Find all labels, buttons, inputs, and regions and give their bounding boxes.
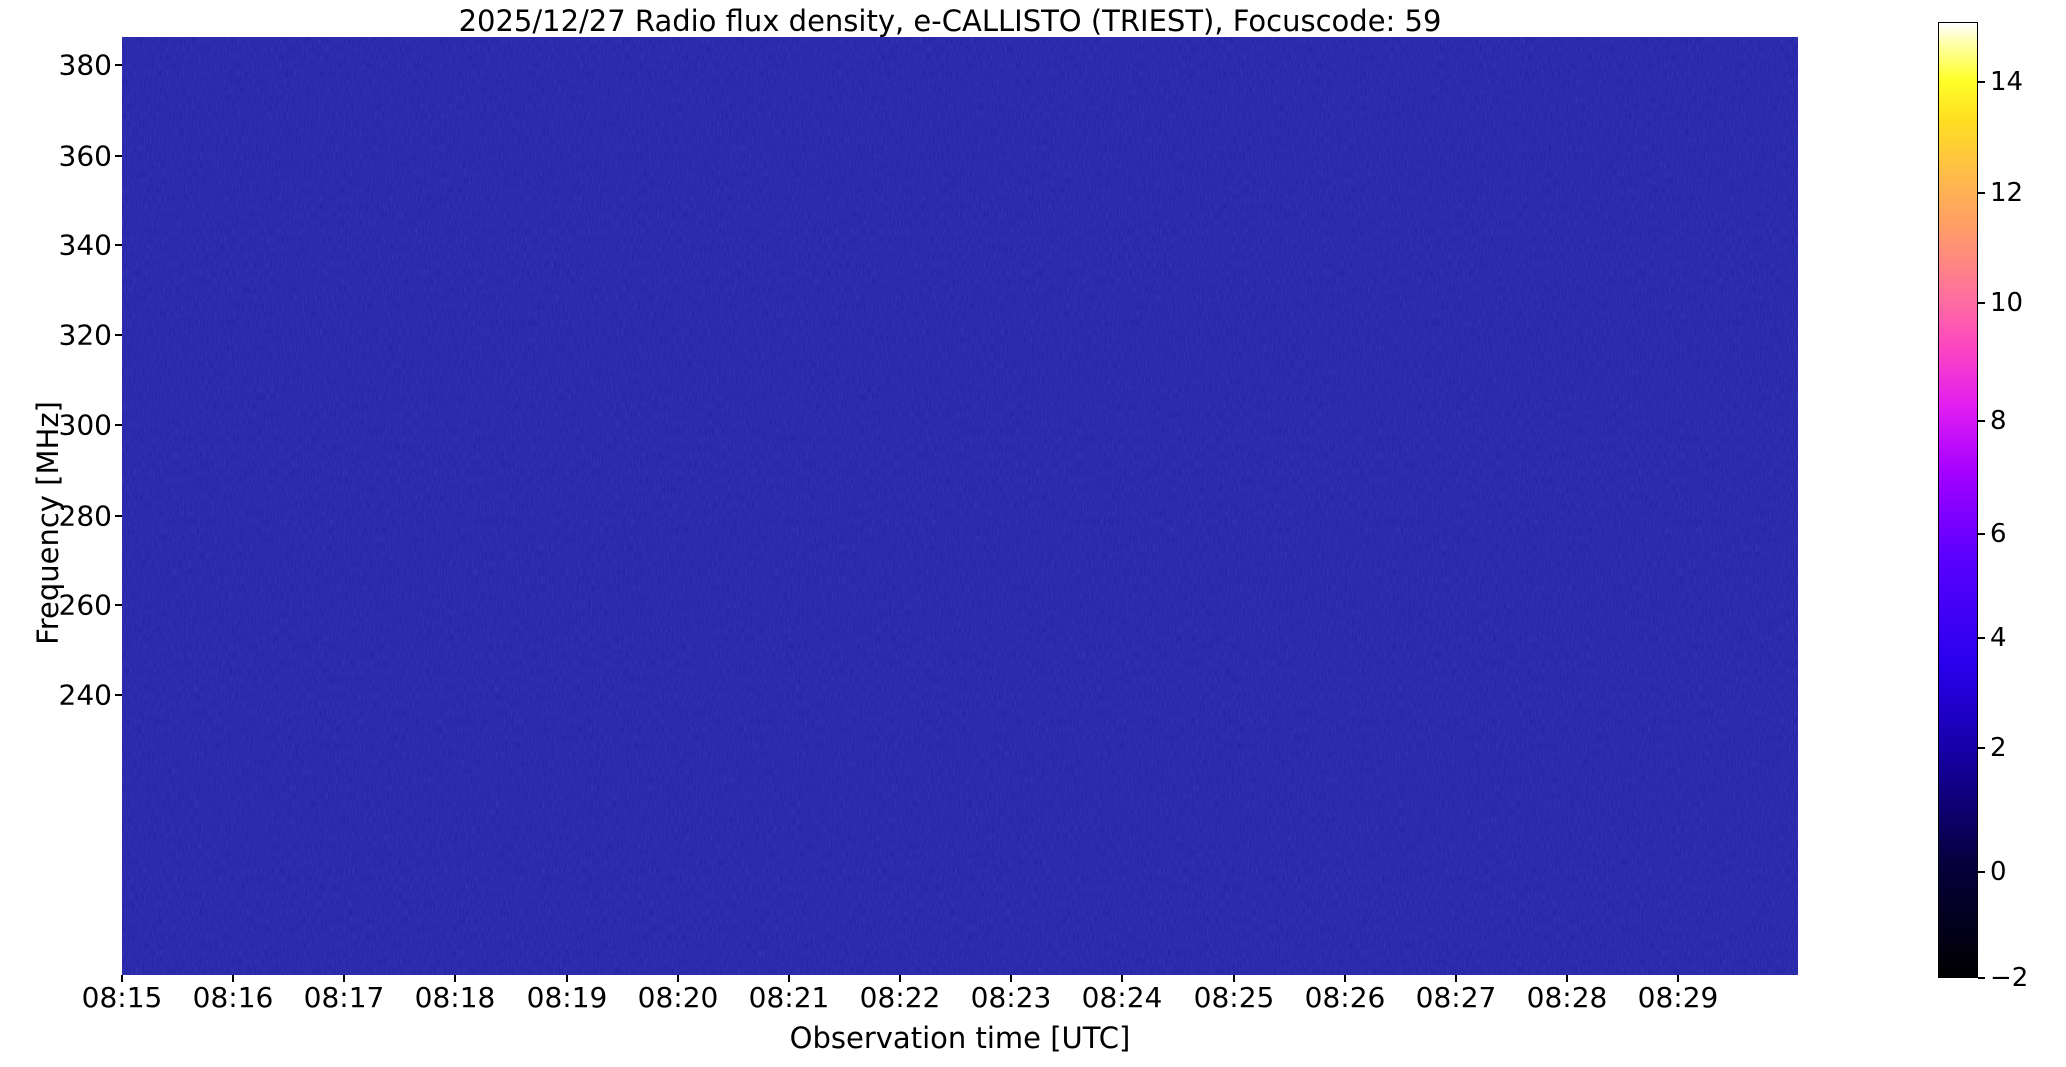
xtick-label-0825: 08:25 [1194, 981, 1275, 1014]
colorbar-tick-label-2: 2 [1990, 733, 2007, 763]
xtick-label-0822: 08:22 [860, 981, 941, 1014]
colorbar-tick-mark-12 [1978, 192, 1985, 194]
page-title: 2025/12/27 Radio flux density, e-CALLIST… [0, 4, 1900, 38]
colorbar-tick-label-4: 4 [1990, 623, 2007, 653]
colorbar-tick-mark-8 [1978, 420, 1985, 422]
colorbar-tick-mark-0 [1978, 871, 1985, 873]
ytick-mark-380 [115, 64, 122, 66]
spectrogram-image [122, 37, 1798, 975]
colorbar-tick-mark-10 [1978, 302, 1985, 304]
colorbar-tick-label-12: 12 [1990, 178, 2023, 208]
xtick-label-0828: 08:28 [1527, 981, 1608, 1014]
figure-canvas: 2025/12/27 Radio flux density, e-CALLIST… [0, 0, 2066, 1067]
colorbar-tick-label-10: 10 [1990, 288, 2023, 318]
colorbar-tick-label-6: 6 [1990, 519, 2007, 549]
ytick-mark-320 [115, 334, 122, 336]
ytick-label-360: 360 [0, 140, 112, 173]
colorbar-tick-mark-4 [1978, 637, 1985, 639]
spectrogram-plot-area[interactable] [122, 37, 1798, 975]
colorbar-tick-mark-6 [1978, 533, 1985, 535]
xtick-label-0824: 08:24 [1082, 981, 1163, 1014]
xtick-label-0821: 08:21 [749, 981, 830, 1014]
y-axis-label: Frequency [MHz] [31, 253, 65, 793]
xtick-label-0818: 08:18 [415, 981, 496, 1014]
xtick-label-0827: 08:27 [1416, 981, 1497, 1014]
colorbar-tick-label-0: 0 [1990, 857, 2007, 887]
xtick-label-0820: 08:20 [638, 981, 719, 1014]
xtick-label-0817: 08:17 [304, 981, 385, 1014]
xtick-label-0823: 08:23 [971, 981, 1052, 1014]
colorbar-tick-label-14: 14 [1990, 67, 2023, 97]
ytick-mark-360 [115, 155, 122, 157]
colorbar-tick-label-8: 8 [1990, 406, 2007, 436]
xtick-label-0826: 08:26 [1305, 981, 1386, 1014]
ytick-mark-280 [115, 515, 122, 517]
ytick-mark-300 [115, 424, 122, 426]
xtick-label-0819: 08:19 [527, 981, 608, 1014]
colorbar[interactable]: 14 12 10 8 6 4 2 0 −2 [1938, 22, 1978, 978]
xtick-label-0816: 08:16 [193, 981, 274, 1014]
ytick-mark-240 [115, 694, 122, 696]
ytick-mark-340 [115, 244, 122, 246]
colorbar-gradient [1938, 22, 1978, 978]
colorbar-tick-mark-2 [1978, 747, 1985, 749]
colorbar-tick-mark-14 [1978, 81, 1985, 83]
colorbar-tick-label-minus2: −2 [1990, 963, 2028, 993]
xtick-label-0815: 08:15 [82, 981, 163, 1014]
ytick-label-380: 380 [0, 49, 112, 82]
ytick-mark-260 [115, 604, 122, 606]
colorbar-tick-mark-minus2 [1978, 977, 1985, 979]
xtick-label-0829: 08:29 [1638, 981, 1719, 1014]
x-axis-label: Observation time [UTC] [122, 1021, 1798, 1055]
